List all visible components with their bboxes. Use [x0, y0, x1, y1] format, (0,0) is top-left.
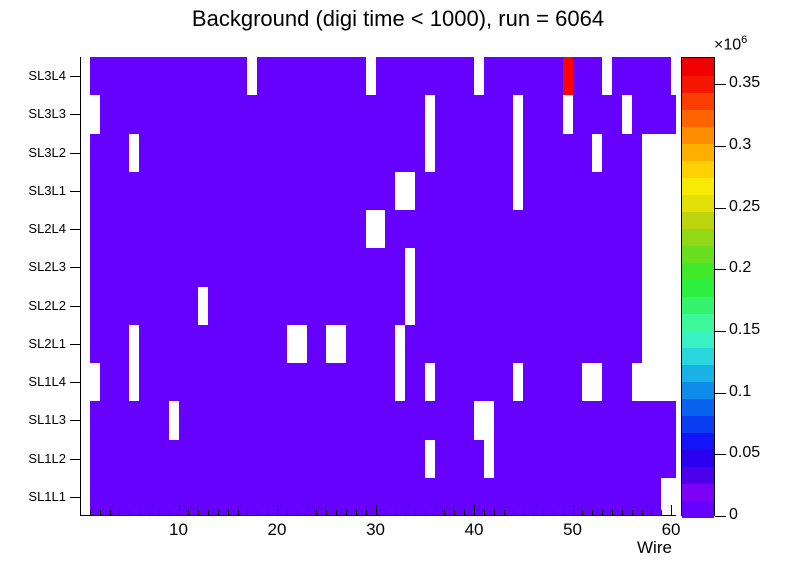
heatmap-cell: [484, 478, 494, 516]
heatmap-cell: [100, 287, 110, 326]
x-axis-minor-tick: [385, 510, 386, 516]
page-title: Background (digi time < 1000), run = 606…: [0, 6, 796, 32]
heatmap-cell: [257, 172, 267, 211]
heatmap-cell: [523, 478, 533, 516]
colorbar-tick-label: 0.15: [729, 321, 760, 339]
y-axis-tick-label: SL2L3: [2, 259, 66, 274]
heatmap-cell: [159, 287, 169, 326]
heatmap-cell: [238, 287, 248, 326]
heatmap-cell: [198, 210, 208, 249]
heatmap-cell: [425, 95, 435, 134]
colorbar-tick: [715, 331, 726, 332]
heatmap-cell: [444, 57, 454, 96]
heatmap-cell: [326, 172, 336, 211]
heatmap-cell: [671, 172, 676, 211]
heatmap-cell: [523, 363, 533, 402]
heatmap-cell: [346, 363, 356, 402]
heatmap-cell: [257, 440, 267, 479]
heatmap-cell: [159, 134, 169, 173]
heatmap-cell: [100, 440, 110, 479]
x-axis-minor-tick: [139, 510, 140, 516]
colorbar-segment: [682, 381, 714, 399]
heatmap-plot-area[interactable]: [80, 57, 676, 516]
heatmap-cell: [484, 325, 494, 364]
heatmap-cell: [159, 440, 169, 479]
heatmap-cell: [612, 57, 622, 96]
heatmap-cell: [119, 287, 129, 326]
heatmap-cell: [179, 287, 189, 326]
heatmap-cell: [592, 57, 602, 96]
heatmap-cell: [139, 95, 149, 134]
heatmap-cell: [651, 95, 661, 134]
heatmap-cell: [159, 57, 169, 96]
heatmap-cell: [297, 440, 307, 479]
colorbar[interactable]: [681, 57, 715, 516]
x-axis-minor-tick: [208, 510, 209, 516]
heatmap-cell: [543, 440, 553, 479]
heatmap-cell: [425, 478, 435, 516]
heatmap-cell: [119, 248, 129, 287]
colorbar-tick-label: 0: [729, 506, 738, 524]
heatmap-cell: [523, 95, 533, 134]
heatmap-cell: [444, 95, 454, 134]
heatmap-cell: [257, 478, 267, 516]
y-axis-tick-label: SL1L3: [2, 412, 66, 427]
heatmap-cell: [632, 210, 642, 249]
x-axis-minor-tick: [238, 510, 239, 516]
heatmap-cell: [139, 287, 149, 326]
heatmap-cell: [523, 134, 533, 173]
heatmap-cell: [179, 95, 189, 134]
heatmap-cell: [139, 210, 149, 249]
heatmap-cell: [592, 134, 602, 173]
heatmap-cell: [366, 172, 376, 211]
heatmap-cell: [405, 134, 415, 173]
heatmap-cell: [277, 440, 287, 479]
heatmap-cell: [198, 248, 208, 287]
heatmap-cell: [484, 57, 494, 96]
root-canvas: Background (digi time < 1000), run = 606…: [0, 0, 796, 572]
y-axis-tick: [70, 420, 80, 421]
heatmap-cell: [119, 210, 129, 249]
heatmap-cell: [139, 134, 149, 173]
heatmap-cell: [425, 363, 435, 402]
y-axis-tick: [70, 191, 80, 192]
x-axis-minor-tick: [612, 510, 613, 516]
heatmap-cell: [592, 478, 602, 516]
heatmap-cell: [238, 478, 248, 516]
heatmap-cell: [198, 478, 208, 516]
colorbar-segment: [682, 500, 714, 518]
heatmap-cell: [326, 325, 336, 364]
heatmap-cell: [523, 210, 533, 249]
heatmap-cell: [366, 440, 376, 479]
heatmap-cell: [543, 363, 553, 402]
x-axis-minor-tick: [622, 510, 623, 516]
heatmap-cell: [100, 210, 110, 249]
heatmap-cell: [198, 95, 208, 134]
heatmap-cell: [464, 172, 474, 211]
x-axis-minor-tick: [119, 510, 120, 516]
colorbar-tick-label: 0.25: [729, 198, 760, 216]
heatmap-cell: [257, 248, 267, 287]
heatmap-cell: [119, 134, 129, 173]
heatmap-cell: [297, 325, 307, 364]
heatmap-cell: [592, 440, 602, 479]
heatmap-cell: [651, 440, 661, 479]
heatmap-cell: [651, 248, 661, 287]
heatmap-cell: [346, 440, 356, 479]
heatmap-cell: [671, 134, 676, 173]
heatmap-cell: [346, 287, 356, 326]
heatmap-cell: [484, 440, 494, 479]
x-axis-minor-tick: [444, 510, 445, 516]
heatmap-cell: [405, 287, 415, 326]
heatmap-cell: [119, 172, 129, 211]
heatmap-cell: [592, 95, 602, 134]
heatmap-cell: [326, 287, 336, 326]
heatmap-cell: [425, 248, 435, 287]
heatmap-cell: [119, 57, 129, 96]
heatmap-cell: [277, 95, 287, 134]
heatmap-cell: [543, 134, 553, 173]
heatmap-cell: [592, 325, 602, 364]
colorbar-segment: [682, 483, 714, 501]
heatmap-cell: [444, 363, 454, 402]
heatmap-cell: [573, 57, 583, 96]
colorbar-segment: [682, 211, 714, 229]
colorbar-segment: [682, 92, 714, 110]
heatmap-cell: [198, 172, 208, 211]
y-axis-tick: [70, 229, 80, 230]
x-axis-major-tick: [573, 505, 574, 516]
heatmap-cell: [632, 57, 642, 96]
colorbar-tick: [715, 84, 726, 85]
colorbar-tick-label: 0.05: [729, 444, 760, 462]
heatmap-cell: [100, 325, 110, 364]
heatmap-cell: [257, 363, 267, 402]
heatmap-cell: [464, 95, 474, 134]
y-axis-tick-label: SL3L1: [2, 183, 66, 198]
heatmap-cell: [632, 248, 642, 287]
heatmap-cell: [139, 363, 149, 402]
heatmap-cell: [277, 401, 287, 440]
heatmap-cell: [218, 57, 228, 96]
colorbar-multiplier-exponent: 6: [741, 34, 747, 46]
heatmap-cell: [573, 478, 583, 516]
heatmap-cell: [464, 401, 474, 440]
x-axis-tick-label: 30: [351, 520, 401, 540]
heatmap-cell: [592, 248, 602, 287]
colorbar-segment: [682, 126, 714, 144]
colorbar-segment: [682, 449, 714, 467]
heatmap-cell: [257, 401, 267, 440]
heatmap-cell: [119, 401, 129, 440]
y-axis-tick-label: SL1L4: [2, 374, 66, 389]
heatmap-cell: [464, 248, 474, 287]
heatmap-cell: [218, 287, 228, 326]
heatmap-cell: [218, 478, 228, 516]
heatmap-cell: [218, 401, 228, 440]
x-axis-tick-label: 60: [646, 520, 696, 540]
heatmap-cell: [425, 57, 435, 96]
heatmap-cell: [218, 134, 228, 173]
heatmap-cell: [346, 401, 356, 440]
heatmap-cell: [218, 95, 228, 134]
heatmap-cell: [179, 210, 189, 249]
heatmap-cell: [326, 248, 336, 287]
heatmap-cell: [366, 210, 376, 249]
heatmap-cells: [80, 57, 676, 516]
heatmap-cell: [385, 401, 395, 440]
heatmap-cell: [484, 210, 494, 249]
x-axis-minor-tick: [257, 510, 258, 516]
heatmap-cell: [100, 478, 110, 516]
y-axis-tick: [70, 382, 80, 383]
heatmap-cell: [277, 134, 287, 173]
x-axis-minor-tick: [513, 510, 514, 516]
heatmap-cell: [346, 210, 356, 249]
heatmap-cell: [198, 440, 208, 479]
x-axis-minor-tick: [415, 510, 416, 516]
colorbar-tick-label: 0.1: [729, 383, 751, 401]
heatmap-cell: [257, 287, 267, 326]
heatmap-cell: [139, 248, 149, 287]
heatmap-cell: [238, 172, 248, 211]
heatmap-cell: [277, 478, 287, 516]
y-axis-tick-label: SL2L1: [2, 336, 66, 351]
heatmap-cell: [444, 325, 454, 364]
heatmap-cell: [277, 210, 287, 249]
heatmap-cell: [257, 325, 267, 364]
colorbar-tick: [715, 393, 726, 394]
heatmap-cell: [385, 134, 395, 173]
heatmap-cell: [346, 95, 356, 134]
heatmap-cell: [612, 248, 622, 287]
heatmap-cell: [543, 95, 553, 134]
heatmap-cell: [504, 478, 514, 516]
heatmap-cell: [277, 248, 287, 287]
x-axis-minor-tick: [494, 510, 495, 516]
heatmap-cell: [159, 95, 169, 134]
y-axis-tick: [70, 153, 80, 154]
heatmap-cell: [238, 134, 248, 173]
heatmap-cell: [238, 325, 248, 364]
x-axis-minor-tick: [366, 510, 367, 516]
heatmap-cell: [119, 478, 129, 516]
heatmap-cell: [366, 401, 376, 440]
heatmap-cell: [159, 401, 169, 440]
x-axis-minor-tick: [661, 510, 662, 516]
colorbar-segment: [682, 296, 714, 314]
y-axis-tick-label: SL3L4: [2, 68, 66, 83]
x-axis-minor-tick: [533, 510, 534, 516]
heatmap-cell: [179, 440, 189, 479]
heatmap-cell: [346, 248, 356, 287]
heatmap-cell: [326, 134, 336, 173]
colorbar-segment: [682, 432, 714, 450]
heatmap-cell: [671, 57, 676, 96]
heatmap-cell: [425, 325, 435, 364]
heatmap-cell: [198, 134, 208, 173]
heatmap-cell: [100, 363, 110, 402]
colorbar-segment: [682, 177, 714, 195]
heatmap-cell: [346, 57, 356, 96]
heatmap-cell: [100, 172, 110, 211]
y-axis-tick: [70, 76, 80, 77]
heatmap-cell: [612, 401, 622, 440]
heatmap-cell: [139, 57, 149, 96]
heatmap-cell: [651, 134, 661, 173]
colorbar-segment: [682, 160, 714, 178]
heatmap-cell: [632, 95, 642, 134]
heatmap-cell: [100, 401, 110, 440]
y-axis-tick-label: SL3L2: [2, 145, 66, 160]
heatmap-cell: [504, 248, 514, 287]
heatmap-cell: [464, 363, 474, 402]
heatmap-cell: [139, 325, 149, 364]
x-axis-minor-tick: [582, 510, 583, 516]
heatmap-cell: [632, 172, 642, 211]
colorbar-tick: [715, 269, 726, 270]
colorbar-segment: [682, 75, 714, 93]
colorbar-tick: [715, 454, 726, 455]
heatmap-cell: [464, 440, 474, 479]
heatmap-cell: [100, 248, 110, 287]
heatmap-cell: [484, 401, 494, 440]
heatmap-cell: [238, 248, 248, 287]
x-axis-minor-tick: [247, 510, 248, 516]
y-axis-tick-label: SL3L3: [2, 106, 66, 121]
heatmap-cell: [385, 287, 395, 326]
heatmap-cell: [297, 478, 307, 516]
x-axis-minor-tick: [425, 510, 426, 516]
heatmap-cell: [671, 210, 676, 249]
heatmap-cell: [326, 210, 336, 249]
heatmap-cell: [257, 210, 267, 249]
heatmap-cell: [405, 210, 415, 249]
heatmap-cell: [632, 478, 642, 516]
heatmap-cell: [366, 248, 376, 287]
heatmap-cell: [444, 172, 454, 211]
y-axis-tick: [70, 267, 80, 268]
heatmap-cell: [573, 287, 583, 326]
heatmap-cell: [100, 134, 110, 173]
x-axis-minor-tick: [346, 510, 347, 516]
heatmap-cell: [119, 325, 129, 364]
heatmap-cell: [651, 325, 661, 364]
heatmap-cell: [612, 478, 622, 516]
heatmap-cell: [651, 287, 661, 326]
x-axis-minor-tick: [316, 510, 317, 516]
heatmap-cell: [346, 172, 356, 211]
x-axis-minor-tick: [592, 510, 593, 516]
heatmap-cell: [139, 440, 149, 479]
heatmap-cell: [218, 248, 228, 287]
heatmap-cell: [100, 95, 110, 134]
heatmap-cell: [238, 440, 248, 479]
x-axis-major-tick: [376, 505, 377, 516]
heatmap-cell: [198, 401, 208, 440]
heatmap-cell: [543, 325, 553, 364]
colorbar-tick-label: 0.35: [729, 74, 760, 92]
x-axis-minor-tick: [336, 510, 337, 516]
heatmap-cell: [159, 363, 169, 402]
heatmap-cell: [159, 172, 169, 211]
x-axis-minor-tick: [484, 510, 485, 516]
heatmap-cell: [179, 134, 189, 173]
heatmap-cell: [671, 440, 676, 479]
x-axis-minor-tick: [218, 510, 219, 516]
heatmap-cell: [632, 325, 642, 364]
heatmap-cell: [238, 210, 248, 249]
heatmap-cell: [405, 248, 415, 287]
heatmap-cell: [326, 440, 336, 479]
heatmap-cell: [179, 325, 189, 364]
x-axis-minor-tick: [149, 510, 150, 516]
colorbar-multiplier: ×106: [714, 34, 747, 54]
heatmap-cell: [504, 401, 514, 440]
heatmap-cell: [179, 248, 189, 287]
heatmap-cell: [523, 248, 533, 287]
heatmap-cell: [346, 478, 356, 516]
heatmap-cell: [179, 363, 189, 402]
x-axis-minor-tick: [632, 510, 633, 516]
heatmap-cell: [573, 401, 583, 440]
heatmap-cell: [592, 401, 602, 440]
heatmap-cell: [632, 401, 642, 440]
heatmap-cell: [573, 325, 583, 364]
heatmap-cell: [405, 57, 415, 96]
heatmap-cell: [504, 172, 514, 211]
heatmap-cell: [139, 401, 149, 440]
x-axis-minor-tick: [188, 510, 189, 516]
x-axis-minor-tick: [543, 510, 544, 516]
heatmap-cell: [385, 210, 395, 249]
heatmap-cell: [504, 57, 514, 96]
heatmap-cell: [425, 172, 435, 211]
x-axis-major-tick: [671, 505, 672, 516]
heatmap-cell: [484, 363, 494, 402]
heatmap-cell: [159, 248, 169, 287]
heatmap-cell: [464, 57, 474, 96]
heatmap-cell: [326, 401, 336, 440]
heatmap-cell: [484, 287, 494, 326]
heatmap-cell: [573, 363, 583, 402]
colorbar-tick: [715, 208, 726, 209]
heatmap-cell: [612, 95, 622, 134]
heatmap-cell: [425, 401, 435, 440]
heatmap-cell: [385, 57, 395, 96]
heatmap-cell: [366, 57, 376, 96]
x-axis-minor-tick: [267, 510, 268, 516]
x-axis-tick-label: 50: [548, 520, 598, 540]
x-axis-minor-tick: [169, 510, 170, 516]
heatmap-cell: [326, 478, 336, 516]
heatmap-cell: [385, 363, 395, 402]
heatmap-cell: [297, 57, 307, 96]
heatmap-cell: [179, 172, 189, 211]
y-axis-tick-label: SL2L4: [2, 221, 66, 236]
heatmap-cell: [119, 363, 129, 402]
y-axis-tick-label: SL1L1: [2, 489, 66, 504]
heatmap-cell: [385, 95, 395, 134]
x-axis-minor-tick: [100, 510, 101, 516]
heatmap-cell: [612, 325, 622, 364]
y-axis-tick: [70, 344, 80, 345]
heatmap-cell: [297, 95, 307, 134]
heatmap-cell: [297, 401, 307, 440]
